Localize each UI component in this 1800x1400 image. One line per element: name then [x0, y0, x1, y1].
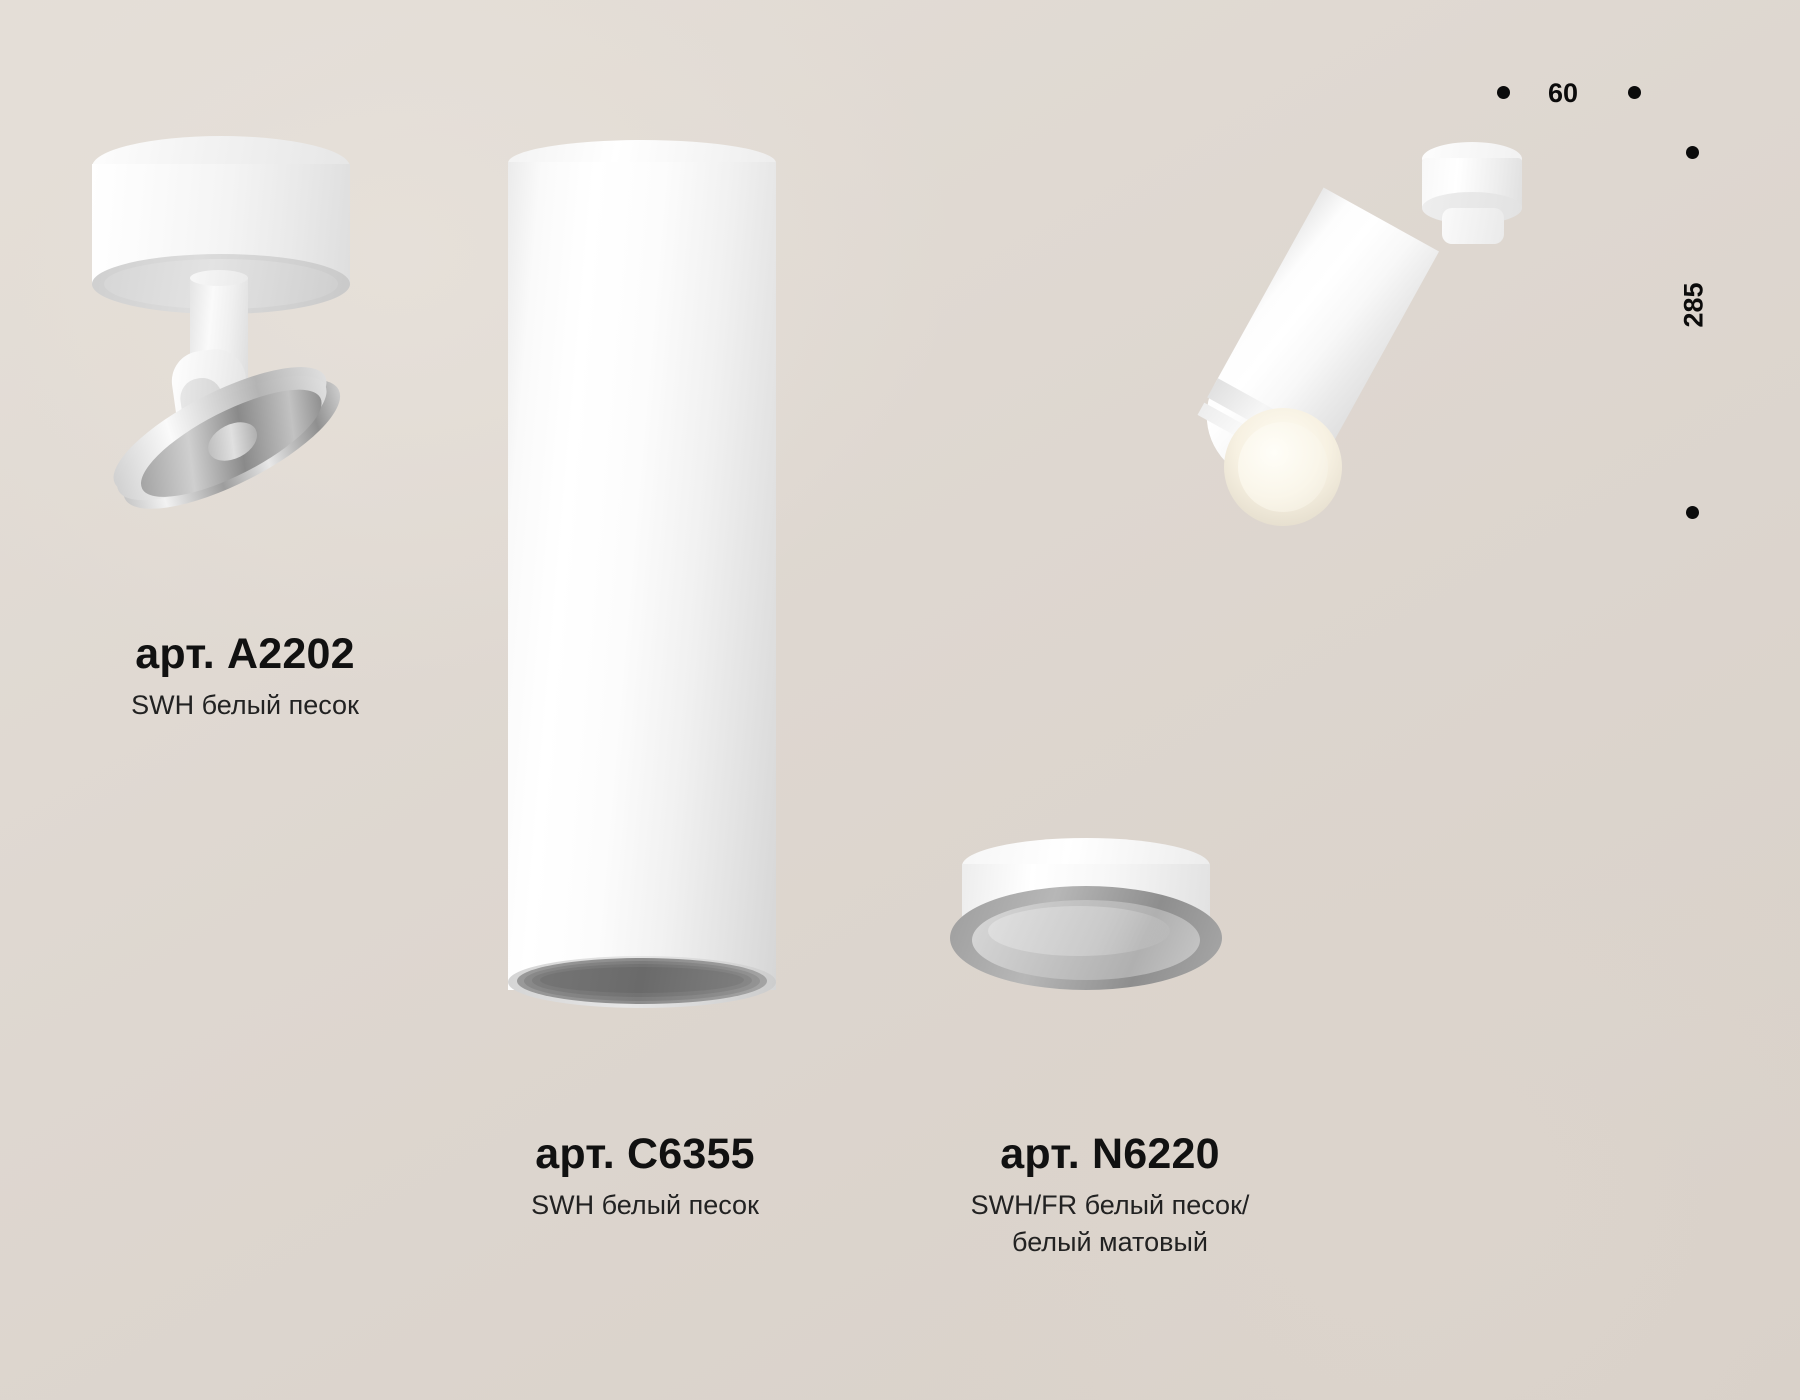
- cylinder-side: [508, 162, 776, 990]
- finish-a2202-line1: SWH белый песок: [20, 688, 470, 723]
- spotlight-lens-inner: [1238, 422, 1328, 512]
- finish-n6220-line1: SWH/FR белый песок/: [800, 1188, 1420, 1223]
- spotlight-knuckle: [1442, 208, 1504, 244]
- product-image-n6220: [950, 838, 1230, 1038]
- dimension-value-width: 60: [1548, 78, 1578, 109]
- article-code-a2202: арт. A2202: [20, 632, 470, 677]
- dimension-marker-width-left: [1497, 86, 1510, 99]
- product-image-a2202: [70, 128, 420, 528]
- label-n6220: арт. N6220 SWH/FR белый песок/ белый мат…: [800, 1132, 1420, 1259]
- finish-n6220-line2: белый матовый: [800, 1225, 1420, 1260]
- product-image-c6355: [508, 140, 776, 1020]
- cylinder-inner-cavity: [540, 967, 744, 993]
- puck-lens-highlight: [988, 906, 1170, 956]
- assembled-spotlight-image: [1160, 120, 1580, 540]
- canopy-stem-cap: [190, 270, 248, 286]
- dimension-value-height: 285: [1679, 292, 1710, 328]
- dimension-marker-height-bottom: [1686, 506, 1699, 519]
- label-a2202: арт. A2202 SWH белый песок: [20, 632, 470, 723]
- diagram-canvas: арт. A2202 SWH белый песок арт. C6355 SW…: [0, 0, 1800, 1400]
- dimension-marker-width-right: [1628, 86, 1641, 99]
- article-code-n6220: арт. N6220: [800, 1132, 1420, 1177]
- dimension-marker-height-top: [1686, 146, 1699, 159]
